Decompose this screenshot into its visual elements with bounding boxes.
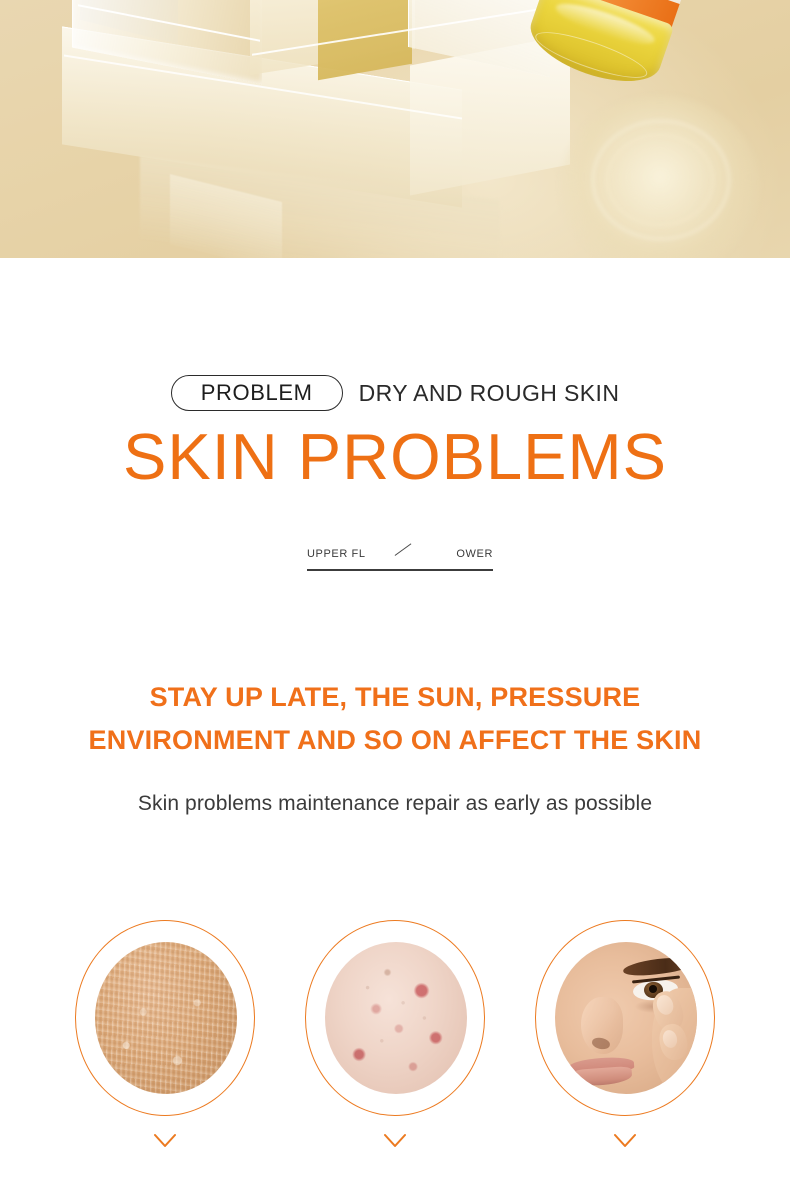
lower-lip <box>572 1066 633 1087</box>
divider: UPPER FL OWER <box>307 545 493 571</box>
skin-problems-promo-page: PROBLEM DRY AND ROUGH SKIN SKIN PROBLEMS… <box>0 0 790 1178</box>
problem-circle-row <box>0 920 790 1178</box>
woman-face-illustration <box>555 942 697 1094</box>
hero-product-photo <box>0 0 790 258</box>
tagline-row: PROBLEM DRY AND ROUGH SKIN <box>0 375 790 411</box>
problem-circle-acne[interactable] <box>305 920 485 1178</box>
chevron-down-icon <box>612 1132 638 1150</box>
divider-rule <box>307 569 493 571</box>
eyebrow <box>622 954 694 978</box>
circle-photo-acne <box>325 942 467 1094</box>
chevron-down-icon <box>152 1132 178 1150</box>
divider-right-text: OWER <box>456 548 493 560</box>
sub-note: Skin problems maintenance repair as earl… <box>0 792 790 816</box>
circle-photo-dry-skin <box>95 942 237 1094</box>
slash-icon <box>395 547 413 563</box>
chevron-down-icon <box>382 1132 408 1150</box>
sub-headings: STAY UP LATE, THE SUN, PRESSURE ENVIRONM… <box>0 676 790 762</box>
reflection-ring-inner <box>606 134 714 226</box>
divider-words: UPPER FL OWER <box>307 545 493 567</box>
sub-heading-line-2: ENVIRONMENT AND SO ON AFFECT THE SKIN <box>0 719 790 762</box>
acne-skin-texture <box>325 942 467 1094</box>
divider-left-text: UPPER FL <box>307 548 366 560</box>
problem-circle-dry-skin[interactable] <box>75 920 255 1178</box>
circle-photo-under-eye <box>555 942 697 1094</box>
page-title: SKIN PROBLEMS <box>0 424 790 489</box>
dry-skin-texture <box>95 942 237 1094</box>
problem-badge: PROBLEM <box>171 375 343 411</box>
sub-heading-line-1: STAY UP LATE, THE SUN, PRESSURE <box>0 676 790 719</box>
problem-circle-under-eye[interactable] <box>535 920 715 1178</box>
tagline-text: DRY AND ROUGH SKIN <box>359 380 620 407</box>
